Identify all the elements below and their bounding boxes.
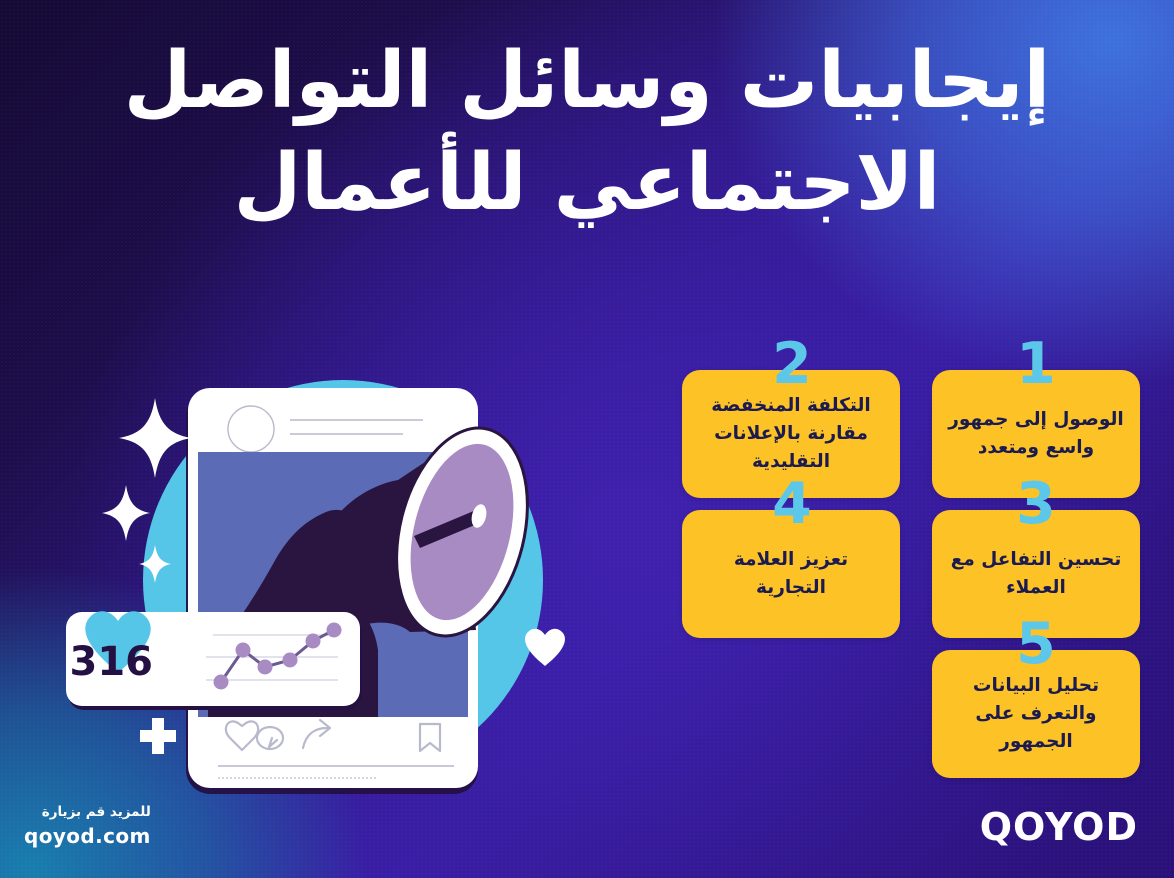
sparkle-medium-icon xyxy=(102,485,150,541)
title-line-1: إيجابيات وسائل التواصل xyxy=(38,28,1136,136)
page-title: إيجابيات وسائل التواصل الاجتماعي للأعمال xyxy=(38,28,1136,237)
footer-website-block: للمزيد قم بزيارة qoyod.com xyxy=(24,804,151,848)
card-number-5: 5 xyxy=(1014,616,1058,673)
benefit-card-1-text: الوصول إلى جمهور واسع ومتعدد xyxy=(948,406,1124,462)
benefit-card-5-text: تحليل البيانات والتعرف على الجمهور xyxy=(948,672,1124,755)
heart-white-icon xyxy=(525,629,565,666)
card-number-2: 2 xyxy=(770,336,814,393)
card-number-1: 1 xyxy=(1014,336,1058,393)
benefit-card-2-text: التكلفة المنخفضة مقارنة بالإعلانات التقل… xyxy=(698,392,884,475)
card-number-3: 3 xyxy=(1014,476,1058,533)
footer-website-url[interactable]: qoyod.com xyxy=(24,824,151,848)
benefit-card-3-text: تحسين التفاعل مع العملاء xyxy=(948,546,1124,602)
qoyod-logo: QOYOD xyxy=(980,808,1138,846)
card-number-4: 4 xyxy=(770,476,814,533)
social-media-illustration: 316 xyxy=(58,330,618,830)
benefits-list: 2 1 الوصول إلى جمهور واسع ومتعدد التكلفة… xyxy=(680,332,1140,792)
footer-more-label: للمزيد قم بزيارة xyxy=(24,804,151,822)
stats-card: 316 xyxy=(66,611,362,710)
benefit-card-4-text: تعزيز العلامة التجارية xyxy=(698,546,884,602)
title-line-2: الاجتماعي للأعمال xyxy=(38,130,1136,238)
infographic-poster: إيجابيات وسائل التواصل الاجتماعي للأعمال xyxy=(0,0,1174,878)
likes-count: 316 xyxy=(70,639,154,685)
plus-icon xyxy=(140,718,176,754)
avatar-circle-icon xyxy=(228,406,274,452)
qoyod-logo-text: QOYOD xyxy=(980,808,1138,846)
